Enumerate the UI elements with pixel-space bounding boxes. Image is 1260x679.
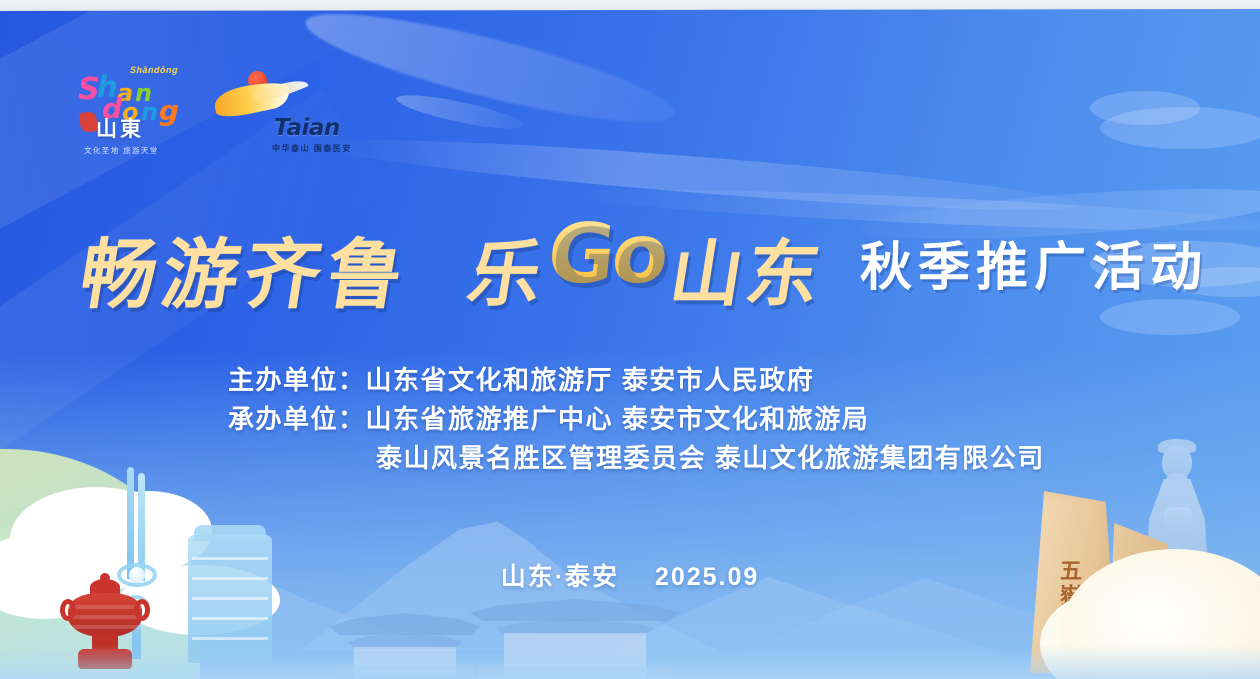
organizer-line-host: 主办单位：山东省文化和旅游厅 泰安市人民政府: [228, 361, 1260, 400]
taian-brand-logo: Taian 中华泰山 国泰民安: [212, 69, 372, 169]
organizer-line-coorganizer-continued: 泰山风景名胜区管理委员会 泰山文化旅游集团有限公司: [376, 439, 1260, 478]
ding-handle: [60, 599, 76, 621]
shandong-brand-logo: Shāndōng S h a n d o n g 山東 文化圣地 旅游天堂: [76, 67, 194, 167]
event-location: 山东·泰安: [501, 563, 619, 591]
title-part-shandong: 山东: [664, 215, 833, 320]
building-floor-line: [192, 597, 268, 600]
building-top: [194, 525, 266, 541]
location-date-line: 山东·泰安 2025.09: [0, 557, 1260, 593]
temple-roof: [470, 599, 680, 621]
taian-wordmark: Taian: [274, 115, 340, 141]
shandong-pinyin: Shāndōng: [130, 65, 178, 75]
poster-background: 五嶽獨尊 昇中天外 Shāndōng S h a n d o n g: [0, 9, 1260, 679]
main-title: 畅游齐鲁 乐 Go 山东 秋季推广活动: [0, 205, 1260, 311]
building-floor-line: [192, 637, 268, 640]
ding-band: [68, 605, 142, 609]
building-floor-line: [192, 617, 268, 620]
bottom-fade-band: [0, 645, 1260, 679]
poster-canvas: 五嶽獨尊 昇中天外 Shāndōng S h a n d o n g: [0, 0, 1260, 679]
title-subtitle-autumn-campaign: 秋季推广活动: [860, 225, 1208, 300]
taian-tagline: 中华泰山 国泰民安: [272, 143, 352, 154]
logo-letter-g: g: [159, 97, 179, 125]
city-building-icon: [188, 535, 272, 663]
ding-band: [68, 625, 142, 629]
title-part-changyouqilu: 畅游齐鲁: [73, 213, 418, 323]
title-part-go: Go: [543, 207, 671, 302]
temple-roof: [330, 613, 480, 635]
ding-band: [68, 615, 142, 619]
organizer-line-coorganizer: 承办单位：山东省旅游推广中心 泰安市文化和旅游局: [228, 400, 1260, 439]
logo-row: Shāndōng S h a n d o n g 山東 文化圣地 旅游天堂: [76, 67, 376, 172]
ding-handle: [134, 599, 150, 621]
title-part-le: 乐: [462, 215, 555, 320]
shandong-chinese-name: 山東: [96, 113, 144, 143]
event-date: 2025.09: [655, 563, 759, 591]
organizer-block: 主办单位：山东省文化和旅游厅 泰安市人民政府 承办单位：山东省旅游推广中心 泰安…: [0, 361, 1260, 478]
statue-hands: [1164, 507, 1192, 537]
shandong-tagline: 文化圣地 旅游天堂: [84, 145, 159, 156]
cloud-decoration: [1090, 91, 1200, 125]
